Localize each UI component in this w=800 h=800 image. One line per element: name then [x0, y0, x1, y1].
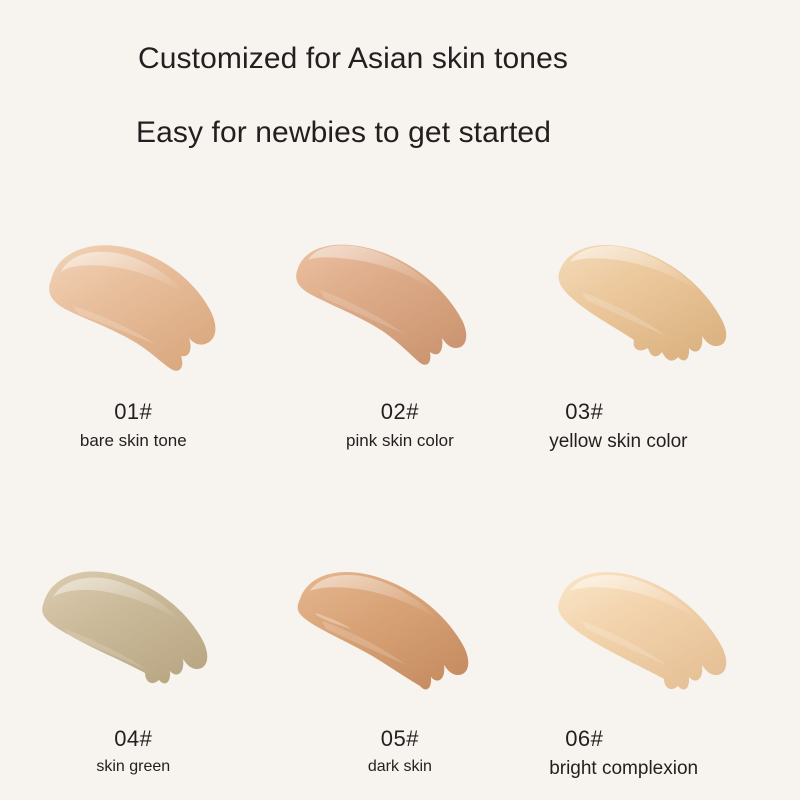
shade-code: 05# [281, 726, 520, 752]
shade-name: skin green [14, 757, 253, 777]
shade-name: bright complexion [549, 757, 786, 782]
shade-card-05[interactable]: 05# dark skin [267, 555, 534, 782]
shade-row-2: 04# skin green [0, 555, 800, 782]
foundation-swatch-icon [280, 228, 520, 393]
swatch-01 [13, 228, 253, 393]
shade-name: dark skin [281, 757, 520, 777]
swatch-03 [546, 228, 786, 393]
shade-card-02[interactable]: 02# pink skin color [267, 228, 534, 455]
shade-card-01[interactable]: 01# bare skin tone [0, 228, 267, 455]
shade-caption-04: 04# skin green [0, 726, 267, 777]
swatch-04 [13, 555, 253, 720]
headline-secondary: Easy for newbies to get started [136, 114, 800, 152]
shade-caption-06: 06# bright complexion [533, 726, 800, 782]
foundation-swatch-icon [280, 555, 520, 720]
shade-caption-01: 01# bare skin tone [0, 399, 267, 452]
headline-primary: Customized for Asian skin tones [138, 40, 800, 78]
shade-name: yellow skin color [549, 430, 786, 455]
foundation-swatch-icon [13, 555, 253, 720]
shade-name: bare skin tone [14, 430, 253, 451]
shade-code: 03# [565, 399, 786, 425]
shade-row-1: 01# bare skin tone [0, 228, 800, 455]
shade-card-04[interactable]: 04# skin green [0, 555, 267, 782]
shade-code: 02# [281, 399, 520, 425]
shade-caption-05: 05# dark skin [267, 726, 534, 777]
foundation-swatch-icon [546, 555, 786, 720]
foundation-swatch-icon [13, 228, 253, 393]
headline-block: Customized for Asian skin tones Easy for… [0, 40, 800, 151]
shade-code: 04# [14, 726, 253, 752]
shade-caption-02: 02# pink skin color [267, 399, 534, 452]
shade-caption-03: 03# yellow skin color [533, 399, 800, 455]
shade-card-03[interactable]: 03# yellow skin color [533, 228, 800, 455]
shade-name: pink skin color [281, 430, 520, 451]
foundation-swatch-icon [546, 228, 786, 393]
shade-code: 01# [14, 399, 253, 425]
shade-code: 06# [565, 726, 786, 752]
swatch-06 [546, 555, 786, 720]
swatch-02 [280, 228, 520, 393]
swatch-05 [280, 555, 520, 720]
shade-card-06[interactable]: 06# bright complexion [533, 555, 800, 782]
shade-grid: 01# bare skin tone [0, 228, 800, 782]
